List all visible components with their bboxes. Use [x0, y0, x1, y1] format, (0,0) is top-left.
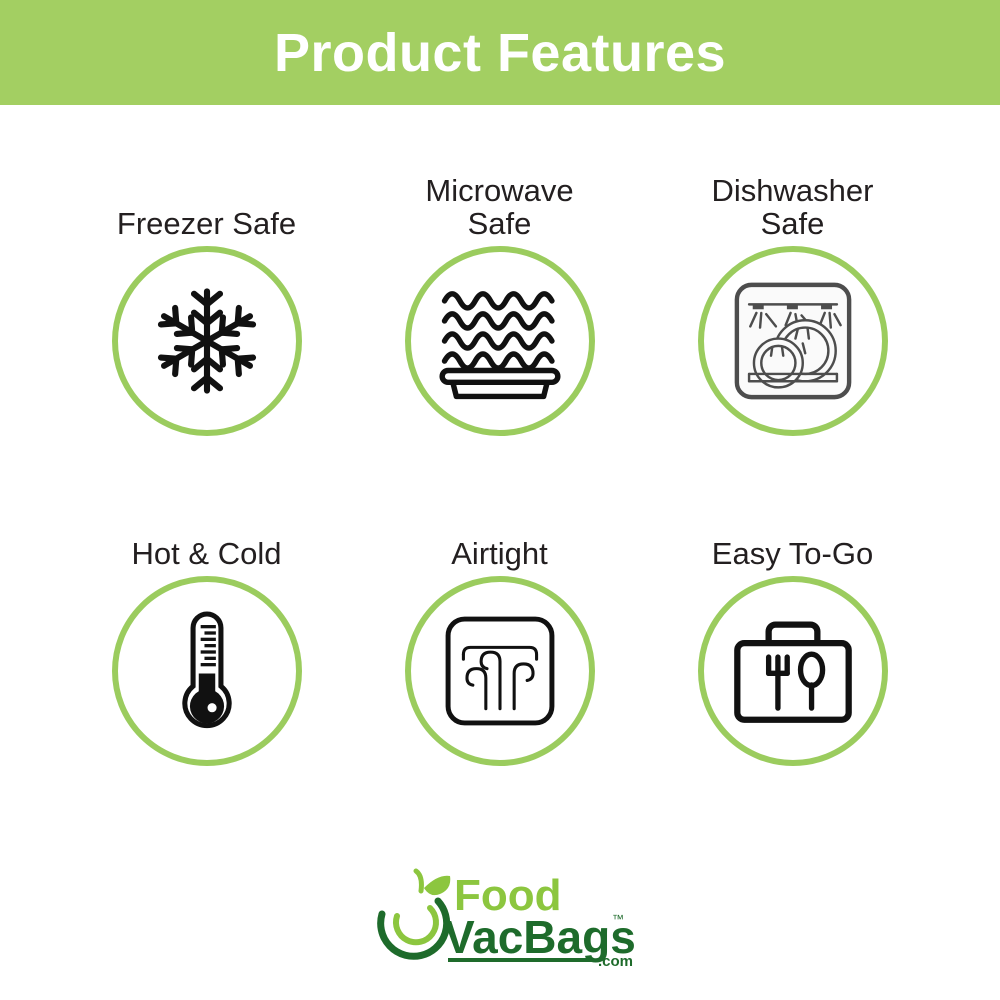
- icon-circle-freezer-safe: [112, 246, 302, 436]
- apple-outline-icon: [381, 871, 451, 956]
- icon-circle-hot-and-cold: [112, 576, 302, 766]
- feature-label-wrap: Easy To-Go: [653, 480, 933, 576]
- feature-label-airtight: Airtight: [451, 537, 547, 570]
- feature-airtight: Airtight: [353, 480, 646, 810]
- logo-trademark: ™: [612, 912, 624, 926]
- snowflake-icon: [148, 282, 266, 400]
- icon-circle-microwave-safe: [405, 246, 595, 436]
- feature-label-microwave-safe: Microwave Safe: [425, 174, 573, 240]
- feature-label-freezer-safe: Freezer Safe: [117, 207, 296, 240]
- microwave-waves-icon: [435, 282, 565, 400]
- feature-label-wrap: Dishwasher Safe: [653, 150, 933, 246]
- icon-circle-easy-to-go: [698, 576, 888, 766]
- logo-tld: .com: [598, 953, 633, 970]
- brand-logo: Food VacBags ™ .com: [0, 868, 1000, 972]
- product-features-infographic: Product Features Freezer Safe: [0, 0, 1000, 1000]
- feature-label-easy-to-go: Easy To-Go: [712, 537, 873, 570]
- page-title: Product Features: [274, 26, 726, 80]
- feature-dishwasher-safe: Dishwasher Safe: [646, 150, 939, 480]
- lunchbox-utensils-icon: [730, 613, 856, 729]
- icon-circle-airtight: [405, 576, 595, 766]
- feature-easy-to-go: Easy To-Go: [646, 480, 939, 810]
- feature-label-wrap: Hot & Cold: [67, 480, 347, 576]
- feature-label-wrap: Microwave Safe: [360, 150, 640, 246]
- feature-microwave-safe: Microwave Safe: [353, 150, 646, 480]
- features-grid: Freezer Safe: [60, 150, 940, 810]
- icon-circle-dishwasher-safe: [698, 246, 888, 436]
- dishwasher-icon: [732, 280, 854, 402]
- foodvacbags-logo: Food VacBags ™ .com: [366, 868, 634, 972]
- feature-freezer-safe: Freezer Safe: [60, 150, 353, 480]
- feature-label-dishwasher-safe: Dishwasher Safe: [712, 174, 874, 240]
- airtight-seal-icon: [441, 612, 559, 730]
- feature-label-wrap: Airtight: [360, 480, 640, 576]
- feature-label-hot-and-cold: Hot & Cold: [132, 537, 282, 570]
- feature-hot-and-cold: Hot & Cold: [60, 480, 353, 810]
- header-banner: Product Features: [0, 0, 1000, 105]
- feature-label-wrap: Freezer Safe: [67, 150, 347, 246]
- thermometer-icon: [169, 607, 245, 735]
